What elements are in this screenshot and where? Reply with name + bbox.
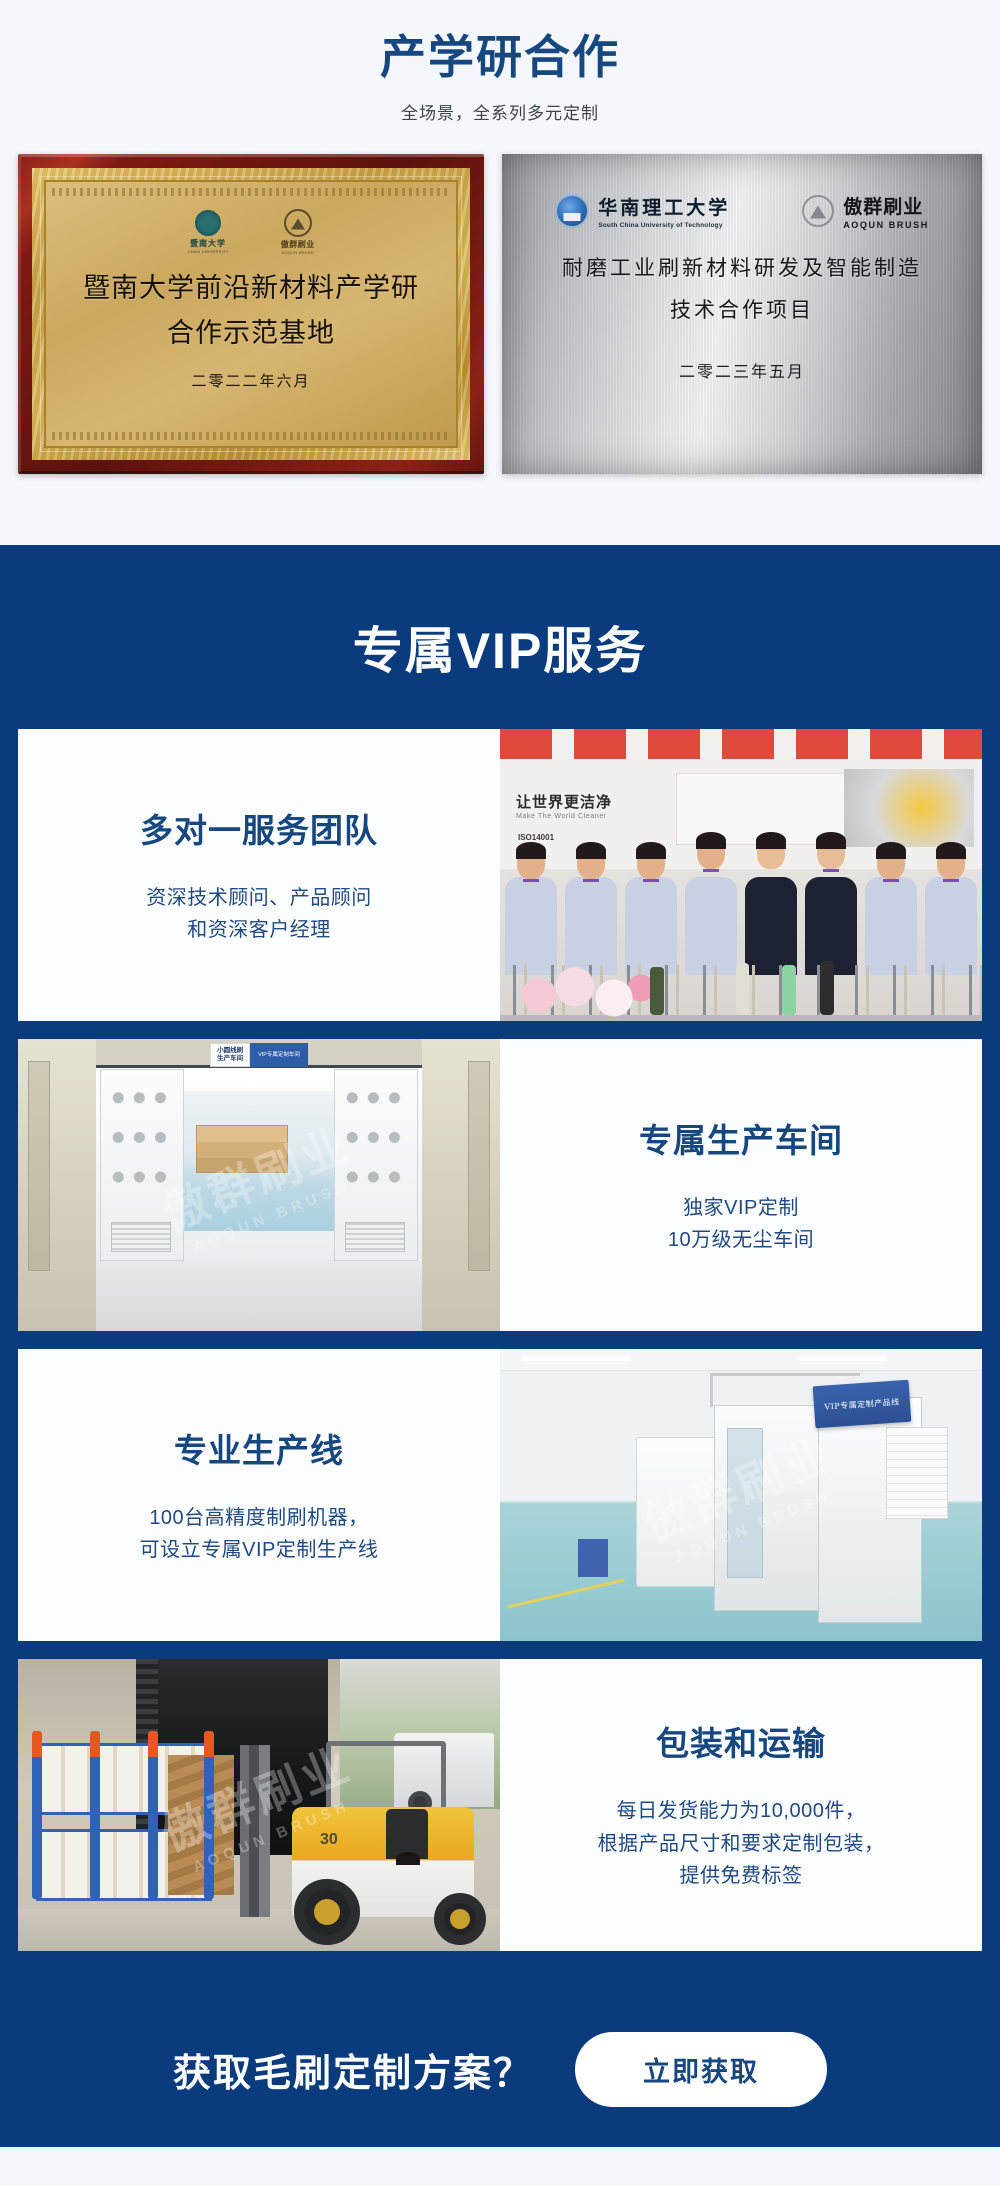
vip-card-workshop: 专属生产车间 独家VIP定制10万级无尘车间 小圆线刷生产车间 VIP专属定制车… [18, 1039, 982, 1331]
staff-group [500, 815, 982, 975]
staff-person [562, 845, 620, 975]
vip-card-text: 专属生产车间 独家VIP定制10万级无尘车间 [500, 1039, 982, 1331]
aoqun-logo-icon-silver: 傲群刷业 AOQUN BRUSH [802, 192, 929, 230]
machine-window [727, 1428, 763, 1578]
stacking-rack-post [204, 1731, 214, 1899]
staff-person [862, 845, 920, 975]
gold-plaque-date: 二零二二年六月 [191, 370, 310, 391]
university-seal-icon [195, 210, 221, 236]
vip-card-production-line: 专业生产线 100台高精度制刷机器，可设立专属VIP定制生产线 VIP专属定制产… [18, 1349, 982, 1641]
cleanroom-photo: 小圆线刷生产车间 VIP专属定制车间 傲群刷业 AOQUN BRUSH [18, 1039, 500, 1331]
gold-plate: 暨南大学 JINAN UNIVERSITY 傲群刷业 AOQUN BRUSH 暨… [32, 168, 470, 460]
aoqun-name-en-silver: AOQUN BRUSH [843, 220, 929, 230]
silver-plaque-line-1: 耐磨工业刷新材料研发及智能制造 [562, 252, 922, 282]
vip-card-text: 包装和运输 每日发货能力为10,000件，根据产品尺寸和要求定制包装，提供免费标… [500, 1659, 982, 1951]
aoqun-logo-icon: 傲群刷业 AOQUN BRUSH [281, 209, 315, 255]
silver-plaque-date: 二零二三年五月 [679, 358, 805, 382]
carton-stack [196, 1125, 288, 1173]
page-title: 产学研合作 [0, 0, 1000, 83]
vip-card-heading: 专属生产车间 [639, 1114, 843, 1162]
plaque-gallery: 暨南大学 JINAN UNIVERSITY 傲群刷业 AOQUN BRUSH 暨… [0, 154, 1000, 474]
shipping-forklift-photo: 30 傲群刷业 AOQUN BRUSH [18, 1659, 500, 1951]
team-photo: 让世界更洁净 Make The World Cleaner ISO14001 [500, 729, 982, 1021]
production-line-photo: VIP专属定制产品线 傲群刷业 AOQUN BRUSH [500, 1349, 982, 1641]
scut-name-cn: 华南理工大学 [598, 193, 730, 220]
silver-plaque-image: 华南理工大学 South China University of Technol… [502, 154, 982, 474]
corridor-floor [96, 1261, 422, 1331]
page-subtitle: 全场景，全系列多元定制 [0, 99, 1000, 124]
get-quote-button[interactable]: 立即获取 [575, 2032, 827, 2107]
vip-card-text: 多对一服务团队 资深技术顾问、产品顾问和资深客户经理 [18, 729, 500, 1021]
forklift-capacity-number: 30 [320, 1831, 338, 1849]
ceiling-light [800, 1356, 886, 1361]
aoqun-mark-icon [284, 209, 312, 237]
forklift-wheel-rear [434, 1893, 486, 1945]
brush-sample [736, 963, 749, 1015]
vip-card-body: 每日发货能力为10,000件，根据产品尺寸和要求定制包装，提供免费标签 [598, 1795, 885, 1892]
brush-machine [636, 1437, 718, 1587]
cta-question: 获取毛刷定制方案？ [173, 2042, 533, 2097]
staff-person [622, 845, 680, 975]
jinan-university-name-en: JINAN UNIVERSITY [187, 249, 228, 254]
academic-cooperation-section: 产学研合作 全场景，全系列多元定制 暨南大学 JINAN UNIVERSITY [0, 0, 1000, 545]
floor-marking-line [507, 1579, 625, 1609]
brush-machine [714, 1405, 826, 1611]
vip-service-section: 专属VIP服务 多对一服务团队 资深技术顾问、产品顾问和资深客户经理 让世界更洁… [0, 545, 1000, 1991]
scut-name-en: South China University of Technology [598, 222, 730, 229]
air-nozzles [343, 1082, 409, 1214]
air-vent [345, 1222, 405, 1252]
air-shower-panel-right [334, 1069, 418, 1261]
vip-card-packing-shipping: 包装和运输 每日发货能力为10,000件，根据产品尺寸和要求定制包装，提供免费标… [18, 1659, 982, 1951]
air-nozzles [109, 1082, 175, 1214]
gold-plate-inner: 暨南大学 JINAN UNIVERSITY 傲群刷业 AOQUN BRUSH 暨… [44, 180, 458, 448]
vip-card-heading: 专业生产线 [174, 1424, 344, 1472]
stacking-rack-post [32, 1731, 42, 1899]
aoqun-name-en: AOQUN BRUSH [282, 250, 314, 255]
staff-person [682, 835, 740, 975]
scut-emblem-icon [555, 194, 589, 228]
gold-plaque-image: 暨南大学 JINAN UNIVERSITY 傲群刷业 AOQUN BRUSH 暨… [18, 154, 484, 474]
vip-card-body: 资深技术顾问、产品顾问和资深客户经理 [146, 882, 372, 947]
vip-card-heading: 包装和运输 [656, 1717, 826, 1765]
side-door-left [28, 1061, 50, 1271]
vip-card-heading: 多对一服务团队 [140, 804, 378, 852]
workshop-sign-white: 小圆线刷生产车间 [210, 1043, 250, 1067]
scut-logo-icon: 华南理工大学 South China University of Technol… [555, 193, 730, 229]
stacking-rack-post [148, 1731, 158, 1899]
forklift-mast [240, 1745, 270, 1917]
vip-card-body: 100台高精度制刷机器，可设立专属VIP定制生产线 [140, 1502, 379, 1567]
scut-names: 华南理工大学 South China University of Technol… [598, 193, 730, 229]
ceiling-light [522, 1356, 630, 1361]
brush-sample [650, 967, 664, 1015]
gold-plaque-line-1: 暨南大学前沿新材料产学研 [83, 266, 419, 305]
jinan-university-name-cn: 暨南大学 [190, 238, 226, 249]
workshop-signboard: 小圆线刷生产车间 VIP专属定制车间 [210, 1043, 308, 1067]
silver-plaque-line-2: 技术合作项目 [670, 294, 814, 324]
jinan-university-logo-icon: 暨南大学 JINAN UNIVERSITY [187, 210, 228, 254]
vip-card-service-team: 多对一服务团队 资深技术顾问、产品顾问和资深客户经理 让世界更洁净 Make T… [18, 729, 982, 1021]
aoqun-name-cn: 傲群刷业 [281, 239, 315, 250]
side-door-right [468, 1061, 490, 1271]
aoqun-name-cn-silver: 傲群刷业 [843, 192, 929, 219]
air-vent [111, 1222, 171, 1252]
parts-bin [578, 1539, 608, 1577]
vip-line-sign-text: VIP专属定制产品线 [824, 1396, 900, 1412]
staff-person [922, 845, 980, 975]
vip-section-title: 专属VIP服务 [0, 545, 1000, 729]
stacking-rack-post [90, 1731, 100, 1899]
cta-banner: 获取毛刷定制方案？ 立即获取 [0, 1991, 1000, 2147]
process-checklist-board [886, 1427, 948, 1519]
gold-plaque-line-2: 合作示范基地 [167, 311, 335, 350]
staff-person [802, 835, 860, 975]
aoqun-mark-icon-silver [802, 195, 834, 227]
wood-pallet-stack [168, 1755, 234, 1895]
gold-plaque-logos: 暨南大学 JINAN UNIVERSITY 傲群刷业 AOQUN BRUSH [187, 208, 314, 256]
vip-card-body: 独家VIP定制10万级无尘车间 [668, 1192, 814, 1257]
vip-card-text: 专业生产线 100台高精度制刷机器，可设立专属VIP定制生产线 [18, 1349, 500, 1641]
brush-sample [782, 965, 796, 1015]
forklift-wheel-front [294, 1879, 360, 1945]
booth-ceiling [500, 729, 982, 759]
booth-slogan-cn: 让世界更洁净 [516, 791, 612, 812]
staff-person-manager [742, 835, 800, 975]
air-shower-panel-left [100, 1069, 184, 1261]
flower-bouquet [506, 957, 656, 1019]
vip-line-signboard: VIP专属定制产品线 [813, 1380, 912, 1429]
workshop-sign-blue: VIP专属定制车间 [250, 1043, 308, 1067]
brush-sample [820, 961, 834, 1015]
aoqun-names-silver: 傲群刷业 AOQUN BRUSH [843, 192, 929, 230]
silver-plaque-logos: 华南理工大学 South China University of Technol… [555, 192, 929, 230]
staff-person [502, 845, 560, 975]
